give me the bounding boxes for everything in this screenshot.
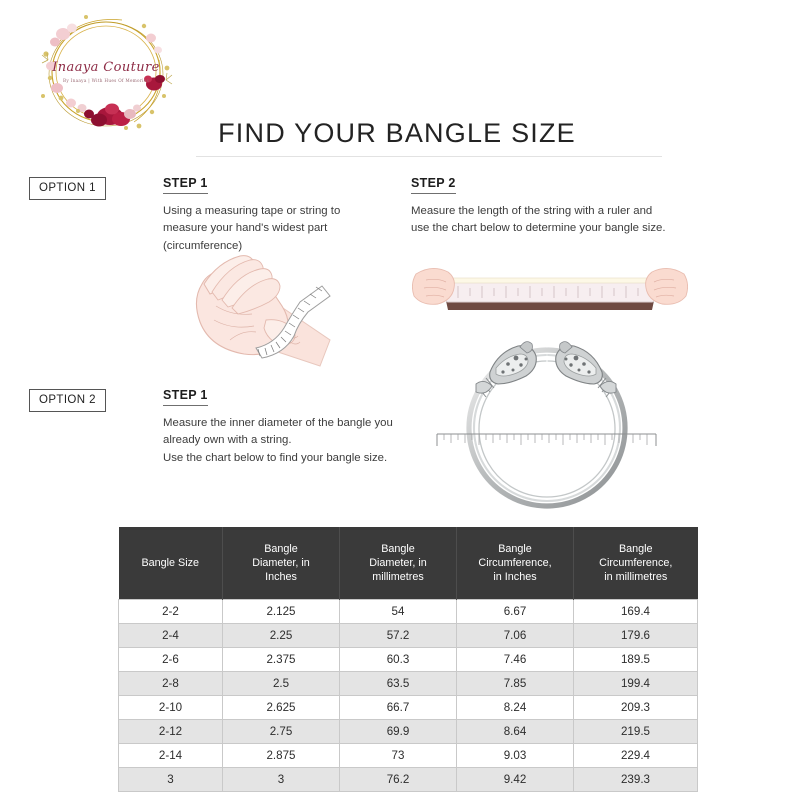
cell-value: 57.2	[340, 624, 457, 648]
brand-name: Inaaya Couture	[26, 60, 186, 75]
header-line: Bangle	[381, 543, 415, 555]
cell-bangle-size: 2-12	[119, 720, 223, 744]
cell-value: 2.25	[223, 624, 340, 648]
table-row: 3376.29.42239.3	[119, 768, 698, 792]
column-header-diameter-inches: Bangle Diameter, in Inches	[223, 527, 340, 600]
cell-value: 219.5	[574, 720, 698, 744]
cell-value: 199.4	[574, 672, 698, 696]
column-header-bangle-size: Bangle Size	[119, 527, 223, 600]
cell-value: 8.24	[457, 696, 574, 720]
cell-value: 2.875	[223, 744, 340, 768]
option-1-badge: OPTION 1	[29, 177, 106, 200]
hand-with-measuring-tape-illustration	[170, 244, 355, 374]
cell-value: 209.3	[574, 696, 698, 720]
cell-value: 63.5	[340, 672, 457, 696]
cell-bangle-size: 2-6	[119, 648, 223, 672]
cell-value: 2.5	[223, 672, 340, 696]
cell-value: 2.375	[223, 648, 340, 672]
ruler-illustration-svg	[412, 252, 688, 324]
cell-value: 8.64	[457, 720, 574, 744]
option1-step1-heading: STEP 1	[163, 176, 208, 194]
cell-bangle-size: 3	[119, 768, 223, 792]
cell-value: 6.67	[457, 600, 574, 624]
table-row: 2-42.2557.27.06179.6	[119, 624, 698, 648]
column-header-circumference-mm: Bangle Circumference, in millimetres	[574, 527, 698, 600]
column-header-circumference-inches: Bangle Circumference, in Inches	[457, 527, 574, 600]
header-line: Diameter, in	[252, 557, 310, 569]
table-header-row: Bangle Size Bangle Diameter, in Inches B…	[119, 527, 698, 600]
header-line: Bangle Size	[141, 557, 199, 569]
table-row: 2-122.7569.98.64219.5	[119, 720, 698, 744]
table-row: 2-22.125546.67169.4	[119, 600, 698, 624]
option1-step1-block: STEP 1 Using a measuring tape or string …	[163, 174, 373, 255]
silver-bangle-illustration	[420, 334, 672, 516]
title-divider	[196, 156, 662, 157]
brand-tagline: By Inaaya | With Hues Of Memories	[26, 78, 186, 83]
header-line: Circumference,	[599, 557, 672, 569]
cell-bangle-size: 2-4	[119, 624, 223, 648]
hands-holding-ruler-illustration	[412, 252, 688, 324]
table-row: 2-102.62566.78.24209.3	[119, 696, 698, 720]
cell-value: 76.2	[340, 768, 457, 792]
option-2-badge: OPTION 2	[29, 389, 106, 412]
cell-value: 69.9	[340, 720, 457, 744]
cell-bangle-size: 2-10	[119, 696, 223, 720]
option1-step2-block: STEP 2 Measure the length of the string …	[411, 174, 671, 238]
option2-step1-body: Measure the inner diameter of the bangle…	[163, 415, 408, 467]
cell-value: 66.7	[340, 696, 457, 720]
header-line: Bangle	[619, 543, 653, 555]
cell-value: 73	[340, 744, 457, 768]
cell-value: 2.125	[223, 600, 340, 624]
option1-step2-body: Measure the length of the string with a …	[411, 203, 671, 238]
cell-value: 229.4	[574, 744, 698, 768]
table-row: 2-82.563.57.85199.4	[119, 672, 698, 696]
header-line: millimetres	[372, 571, 424, 583]
header-line: Bangle	[264, 543, 298, 555]
cell-bangle-size: 2-14	[119, 744, 223, 768]
option2-step1-block: STEP 1 Measure the inner diameter of the…	[163, 386, 408, 467]
table-row: 2-62.37560.37.46189.5	[119, 648, 698, 672]
option1-step2-heading: STEP 2	[411, 176, 456, 194]
header-line: Inches	[265, 571, 297, 583]
option2-step1-heading: STEP 1	[163, 388, 208, 406]
bangle-illustration-svg	[420, 334, 672, 516]
header-line: in Inches	[493, 571, 536, 583]
bangle-size-chart-table: Bangle Size Bangle Diameter, in Inches B…	[118, 527, 698, 792]
cell-value: 189.5	[574, 648, 698, 672]
cell-bangle-size: 2-8	[119, 672, 223, 696]
header-line: Bangle	[498, 543, 532, 555]
cell-value: 239.3	[574, 768, 698, 792]
cell-value: 169.4	[574, 600, 698, 624]
cell-value: 9.42	[457, 768, 574, 792]
header-line: Diameter, in	[369, 557, 427, 569]
cell-value: 60.3	[340, 648, 457, 672]
cell-value: 179.6	[574, 624, 698, 648]
cell-value: 7.85	[457, 672, 574, 696]
hand-illustration-svg	[170, 244, 355, 374]
cell-value: 9.03	[457, 744, 574, 768]
cell-value: 7.06	[457, 624, 574, 648]
page-title: FIND YOUR BANGLE SIZE	[0, 118, 794, 149]
header-line: in millimetres	[604, 571, 667, 583]
brand-logo: Inaaya Couture By Inaaya | With Hues Of …	[26, 8, 186, 136]
table-body: 2-22.125546.67169.42-42.2557.27.06179.62…	[119, 600, 698, 792]
table-row: 2-142.875739.03229.4	[119, 744, 698, 768]
cell-value: 54	[340, 600, 457, 624]
cell-value: 7.46	[457, 648, 574, 672]
cell-bangle-size: 2-2	[119, 600, 223, 624]
cell-value: 2.75	[223, 720, 340, 744]
column-header-diameter-mm: Bangle Diameter, in millimetres	[340, 527, 457, 600]
cell-value: 3	[223, 768, 340, 792]
header-line: Circumference,	[478, 557, 551, 569]
cell-value: 2.625	[223, 696, 340, 720]
